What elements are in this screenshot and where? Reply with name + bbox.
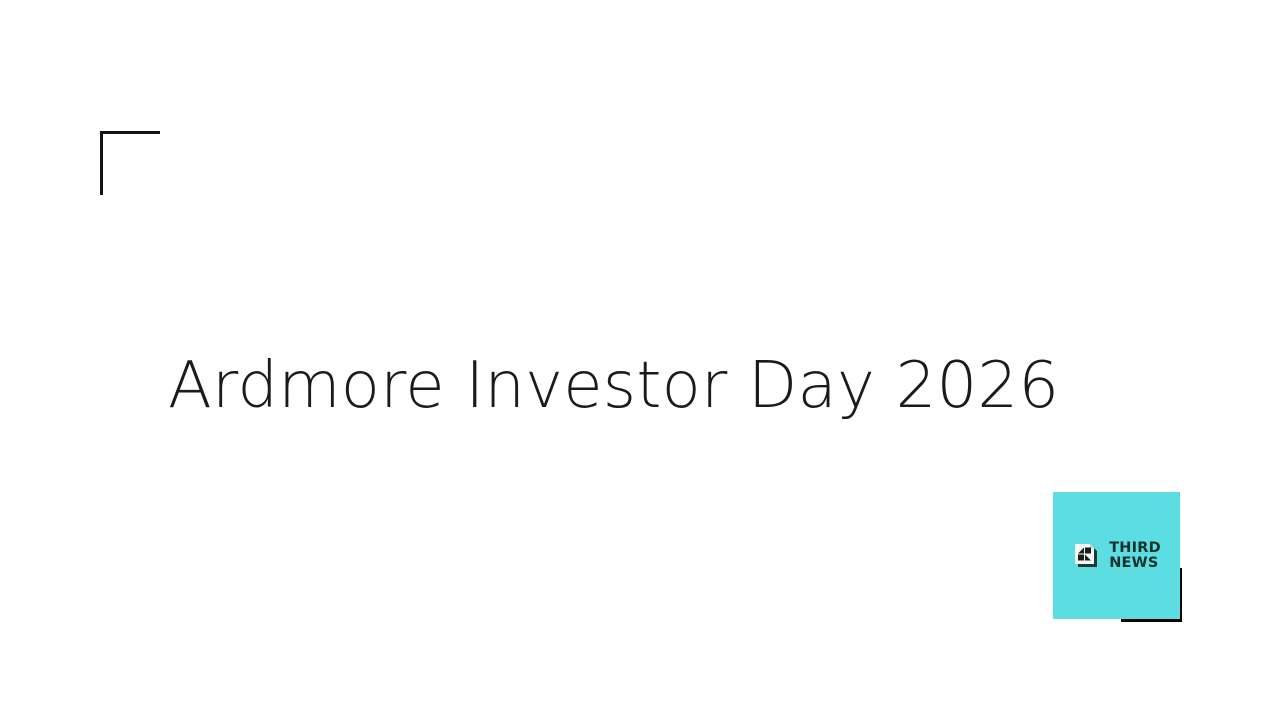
- newspaper-icon: [1072, 541, 1102, 571]
- brand-wordmark-line1: THIRD: [1109, 541, 1161, 556]
- brand-wordmark: THIRD NEWS: [1109, 541, 1161, 571]
- brand-logo-block: THIRD NEWS: [1053, 492, 1180, 622]
- corner-bracket-decoration: [100, 131, 160, 195]
- logo-lockup: THIRD NEWS: [1053, 492, 1180, 619]
- page-title: Ardmore Investor Day 2026: [168, 341, 1108, 431]
- title-slide: Ardmore Investor Day 2026 THIR: [0, 0, 1280, 720]
- brand-wordmark-line2: NEWS: [1109, 556, 1161, 571]
